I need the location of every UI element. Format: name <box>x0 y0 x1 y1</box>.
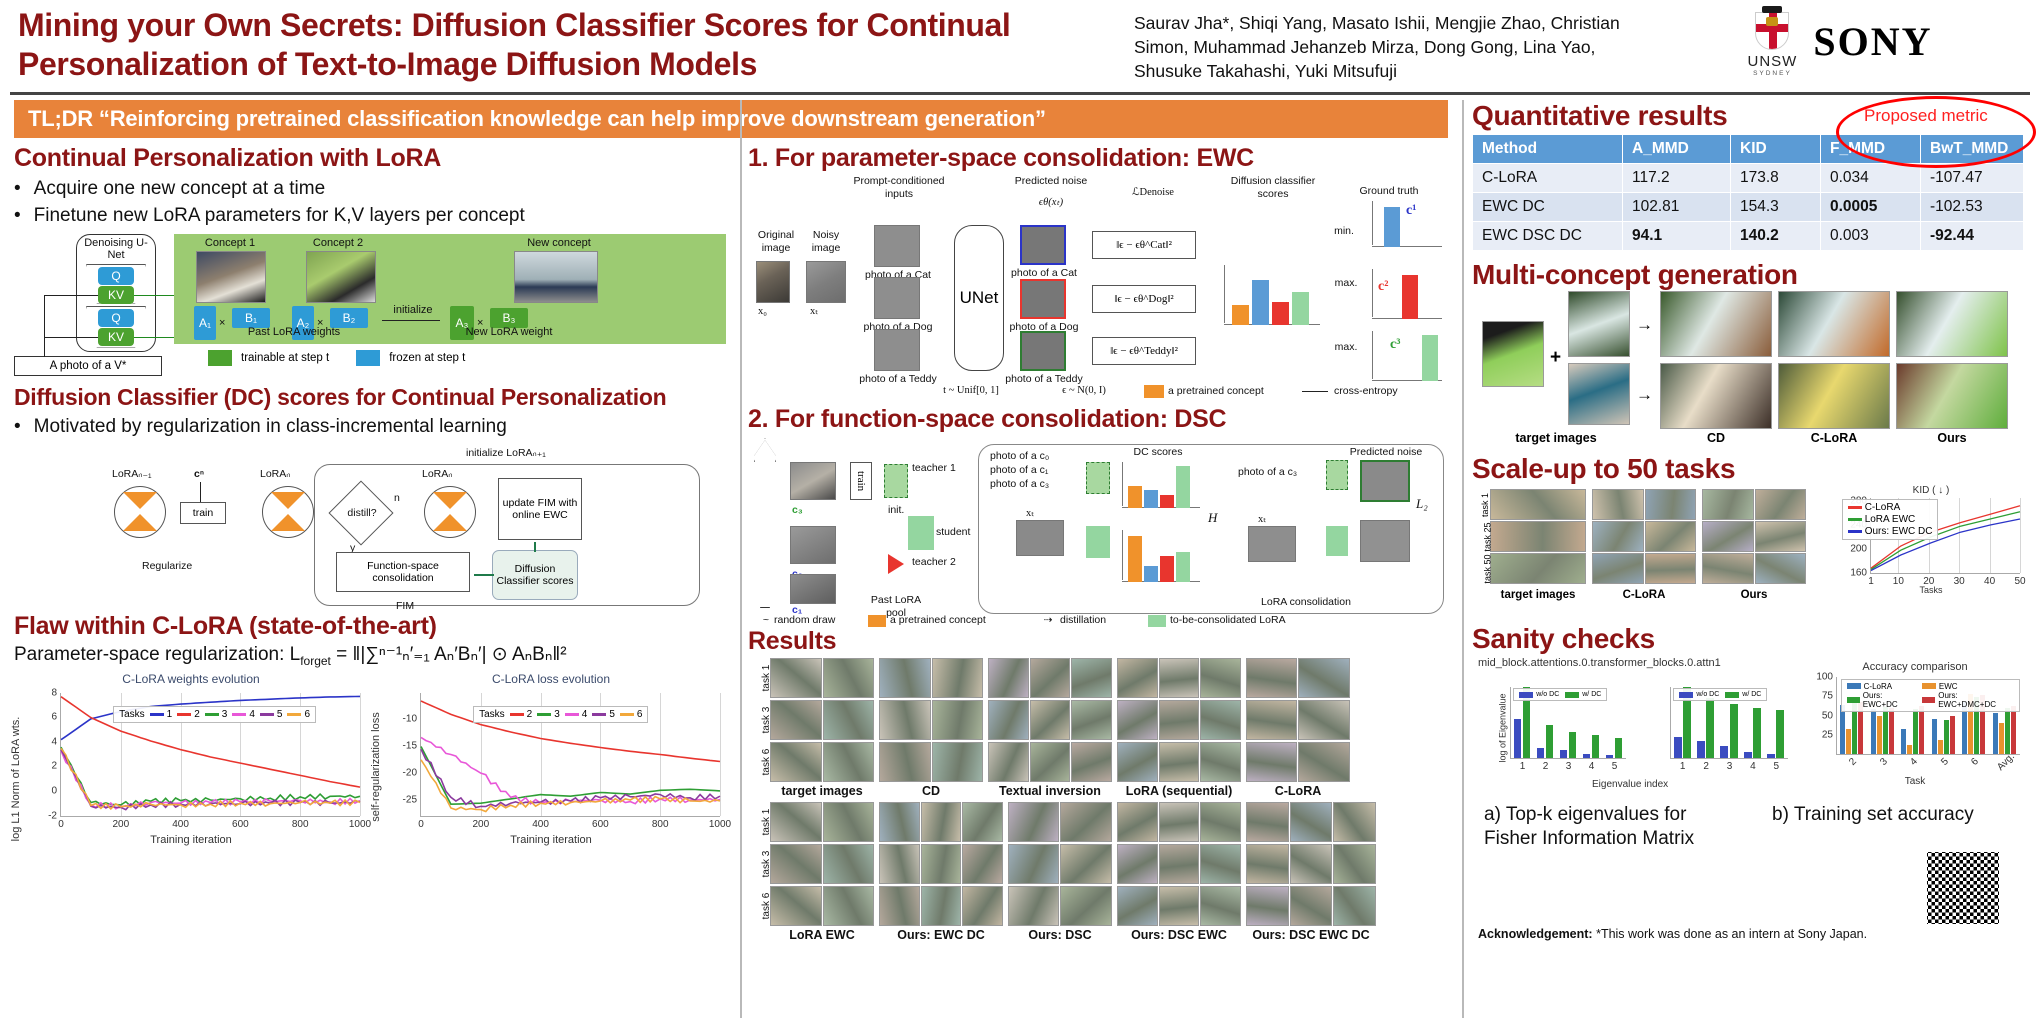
bar <box>1932 719 1937 754</box>
results-cap-ti: Textual inversion <box>988 784 1112 798</box>
results-image <box>823 658 875 698</box>
photo-c3-label-2: photo of a c₃ <box>1238 466 1324 479</box>
dsc-pretrained-label: a pretrained concept <box>890 614 1010 627</box>
concept1-image <box>196 251 266 303</box>
bar <box>2011 706 2016 754</box>
results-cell <box>988 700 1112 740</box>
results-image <box>1159 742 1200 782</box>
prompt-cond-image-dog <box>874 277 920 319</box>
mcg-arrow-2: → <box>1636 385 1653 405</box>
table-cell: 0.003 <box>1821 222 1921 251</box>
results-image <box>1200 886 1241 926</box>
results-image <box>1246 742 1298 782</box>
photo-c0-label: photo of a c₀ <box>990 450 1076 463</box>
legend-item: Ours: EWC DC <box>1848 526 1933 537</box>
list-item: Motivated by regularization in class-inc… <box>14 415 734 439</box>
x-tick: 30 <box>1954 573 1965 587</box>
y-tick: 0 <box>51 786 61 797</box>
chart-legend: C-LoRALoRA EWCOurs: EWC DC <box>1842 499 1939 540</box>
dsc-img-c1 <box>790 574 836 604</box>
y-tick: -15 <box>403 741 421 752</box>
legend-swatch <box>510 713 524 716</box>
legend-swatch <box>1922 697 1935 703</box>
results-image <box>1159 802 1200 842</box>
mcg-ours-bottom <box>1896 363 2008 429</box>
legend-label: 5 <box>609 709 615 720</box>
legend-item: w/ DC <box>1565 691 1601 698</box>
results-cell <box>879 802 1003 842</box>
results-image <box>932 658 984 698</box>
bar <box>1753 708 1761 758</box>
multi-concept-figure: + → → target images CD C-LoRA Ours <box>1472 291 2024 441</box>
table-cell: 154.3 <box>1731 193 1821 222</box>
y-axis-label-weights: log L1 Norm of LoRA wts. <box>10 717 22 842</box>
results-cap-lora: LoRA (sequential) <box>1117 784 1241 798</box>
results-image <box>1159 886 1200 926</box>
dsc-c3-label: c₃ <box>792 504 803 517</box>
gt-chart-c1: c¹ <box>1372 201 1442 247</box>
dsc-xt-img-2 <box>1248 526 1296 562</box>
init-label: init. <box>888 504 924 517</box>
y-tick: 4 <box>51 736 61 747</box>
unsw-wordmark: UNSW <box>1748 53 1798 70</box>
bar <box>1938 740 1943 754</box>
results-cell <box>1117 742 1241 782</box>
x-tick: 3 <box>1876 754 1890 768</box>
frozen-swatch <box>356 350 380 366</box>
fim-xlabel: Eigenvalue index <box>1592 779 1668 790</box>
chart-legend: Tasks23456 <box>473 706 648 723</box>
legend-item: 2 <box>177 709 200 720</box>
dsc-img-c2 <box>790 526 836 564</box>
unsw-sub-wordmark: SYDNEY <box>1753 70 1792 77</box>
results-cell <box>770 844 874 884</box>
legend-item: Ours: EWC+DMC+DC <box>1922 691 2014 709</box>
results-image <box>962 844 1003 884</box>
dsc-top-bar-1 <box>1144 490 1158 508</box>
legend-label: w/o DC <box>1536 691 1559 698</box>
dc-bar-3 <box>1292 292 1309 325</box>
results-image <box>770 802 822 842</box>
column-divider-1 <box>740 100 742 1018</box>
random-draw-label: random draw <box>774 614 854 627</box>
noisy-image <box>806 261 846 303</box>
y-tick: 6 <box>51 712 61 723</box>
results-image <box>1298 658 1350 698</box>
scale-image <box>1592 489 1644 520</box>
dc-bar-2 <box>1272 302 1289 325</box>
table-cell: 140.2 <box>1731 222 1821 251</box>
results-cell <box>1246 802 1376 842</box>
results-cell <box>770 742 874 782</box>
gt1-bar <box>1384 207 1400 247</box>
initialize-label: initialize <box>380 304 446 316</box>
scale-image <box>1702 521 1754 552</box>
lora-n-tri-top-2 <box>433 492 467 509</box>
plot-loss: self-regularization loss 020040060080010… <box>374 687 728 847</box>
x-tick: 5 <box>1612 758 1618 772</box>
results-image <box>1071 742 1112 782</box>
results-cell <box>770 802 874 842</box>
legend-label: w/ DC <box>1742 691 1761 698</box>
table-cell: C-LoRA <box>1473 164 1623 193</box>
gt2-axis-y <box>1372 269 1373 317</box>
table-cell: 0.0005 <box>1821 193 1921 222</box>
results-image <box>1246 802 1289 842</box>
sanity-caption-b: b) Training set accuracy <box>1772 803 2022 827</box>
accuracy-chart: Accuracy comparison 25507510023456Avg.C-… <box>1806 661 2024 789</box>
dc-scores-label: Diffusion classifier scores <box>1218 175 1328 200</box>
unsw-logo: UNSW SYDNEY <box>1748 6 1798 77</box>
chart-legend: w/o DCw/ DC <box>1513 688 1607 701</box>
scale-cell <box>1490 489 1586 520</box>
y-tick: -20 <box>403 767 421 778</box>
legend-label: 1 <box>167 709 173 720</box>
original-image-label: Original image <box>750 229 802 254</box>
x-tick: 50 <box>2014 573 2025 587</box>
dsc-bot-bar-1 <box>1144 566 1158 582</box>
noisy-image-label: Noisy image <box>802 229 850 254</box>
clora-charts: C-LoRA weights evolution log L1 Norm of … <box>14 672 734 847</box>
legend-label: 3 <box>554 709 560 720</box>
x-tick: 1000 <box>709 816 731 830</box>
results-image <box>1298 742 1350 782</box>
legend-item: 5 <box>592 709 615 720</box>
quant-header-row: Quantitative results Proposed metric <box>1472 100 2032 132</box>
x0-label: x₀ <box>758 306 767 319</box>
legend-label: 6 <box>637 709 643 720</box>
t-unif-label: t ~ Unif[0, 1] <box>916 385 1026 398</box>
list-item: Finetune new LoRA parameters for K,V lay… <box>14 204 734 228</box>
legend-item: 4 <box>232 709 255 720</box>
results-image <box>1246 844 1289 884</box>
legend-label: 4 <box>582 709 588 720</box>
ground-truth-label: Ground truth <box>1344 185 1434 198</box>
gridline <box>360 693 361 816</box>
results-image <box>921 886 962 926</box>
lora-a-chart: 12345w/o DCw/ DC <box>1488 673 1628 777</box>
results-image <box>1333 886 1376 926</box>
chart-title-weights: C-LoRA weights evolution <box>14 672 368 686</box>
diffusion-classifier-scores-box: Diffusion Classifier scores <box>492 550 578 600</box>
kid-x-label: Tasks <box>1919 585 1942 595</box>
mcg-sunglasses <box>1568 363 1630 425</box>
scale-row: task 25 <box>1490 521 1806 552</box>
dsc-top-axis-y <box>1122 462 1123 506</box>
results-image <box>1246 658 1298 698</box>
legend-swatch <box>565 713 579 716</box>
lora-n-tri-bottom-1 <box>271 514 305 531</box>
dc-bar-0 <box>1232 305 1249 325</box>
cn-label: cⁿ <box>194 468 204 480</box>
dsc-xt-label-2: xₜ <box>1258 514 1266 527</box>
accuracy-plot-area: 25507510023456Avg.C-LoRAEWCOurs: EWC+DCO… <box>1836 677 2020 755</box>
legend-item: 6 <box>620 709 643 720</box>
x-tick: 3 <box>1566 758 1572 772</box>
scale-image <box>1490 521 1586 552</box>
results-cell <box>1117 802 1241 842</box>
scale-cap-clora: C-LoRA <box>1592 589 1696 601</box>
prompt-cond-image-teddy <box>874 329 920 371</box>
results-cap-clora: C-LoRA <box>1246 784 1350 798</box>
pretrained-concept-label: a pretrained concept <box>1168 385 1286 398</box>
section-title-continual-personalization: Continual Personalization with LoRA <box>14 144 734 173</box>
results-image <box>770 700 822 740</box>
dsc-pred-noise-top <box>1360 460 1410 502</box>
legend-item: w/o DC <box>1679 691 1719 698</box>
bar <box>1944 720 1949 754</box>
results-image <box>988 742 1029 782</box>
results-row: task 6 <box>770 742 1448 782</box>
legend-title: Tasks <box>119 709 145 720</box>
bar <box>1730 704 1738 758</box>
arrow-kv-to-panel-top <box>134 295 176 297</box>
gridline <box>2020 498 2021 573</box>
legend-label: 2 <box>194 709 200 720</box>
lora-n-minus-1-label: LoRAₙ₋₁ <box>112 468 152 480</box>
results-cap-ewcdc: Ours: EWC DC <box>879 928 1003 942</box>
legend-item: EWC <box>1922 682 2014 691</box>
results-row: task 1 <box>770 658 1448 698</box>
results-grid-bottom: task 1task 3task 6 LoRA EWC Ours: EWC DC… <box>748 802 1448 942</box>
legend-label: 6 <box>304 709 310 720</box>
prompt-cond-image-cat <box>874 225 920 267</box>
q-block-top: Q <box>98 267 134 285</box>
legend-item: Ours: EWC+DC <box>1847 691 1916 709</box>
legend-swatch <box>620 713 634 716</box>
y-tick: -25 <box>403 794 421 805</box>
plot-weights: log L1 Norm of LoRA wts. 020040060080010… <box>14 687 368 847</box>
pretrained-concept-swatch <box>1144 385 1164 398</box>
train-box: train <box>180 502 226 524</box>
results-image <box>932 742 984 782</box>
y-tick: -2 <box>48 810 61 821</box>
list-item: Acquire one new concept at a time <box>14 177 734 201</box>
H-label: H <box>1208 510 1217 526</box>
poster-root: Mining your Own Secrets: Diffusion Class… <box>0 0 2040 1020</box>
gt-chart-c3: c³ <box>1372 331 1442 381</box>
x-tick: 2 <box>1845 754 1859 768</box>
y-tick: 75 <box>1822 691 1837 702</box>
mcg-cap-clora: C-LoRA <box>1778 431 1890 445</box>
legend-swatch <box>592 713 606 716</box>
column-middle: 1. For parameter-space consolidation: EW… <box>748 144 1448 942</box>
results-cell <box>988 742 1112 782</box>
chart-legend: w/o DCw/ DC <box>1673 688 1767 701</box>
sanity-caption-a: a) Top-k eigenvalues for Fisher Informat… <box>1484 803 1734 852</box>
x-tick: 800 <box>292 816 309 830</box>
scale-row: task 1 <box>1490 489 1806 520</box>
results-cell <box>879 700 983 740</box>
results-caps-top: target images CD Textual inversion LoRA … <box>770 784 1448 798</box>
y-tick: 160 <box>1850 568 1871 579</box>
table-cell: 102.81 <box>1623 193 1731 222</box>
table-row: EWC DC102.81154.30.0005-102.53 <box>1473 193 2024 222</box>
page-title: Mining your Own Secrets: Diffusion Class… <box>18 6 1120 84</box>
cross-entropy-arrow <box>1302 391 1328 392</box>
table-cell: -92.44 <box>1921 222 2024 251</box>
concept1-label: Concept 1 <box>188 237 272 249</box>
dsc-train-box: train <box>850 462 872 500</box>
x-tick: 5 <box>1774 758 1780 772</box>
trainable-label: trainable at step t <box>241 352 329 364</box>
th-kid: KID <box>1731 135 1821 164</box>
y-tick: 25 <box>1822 729 1837 740</box>
results-cell <box>770 700 874 740</box>
update-fim-box: update FIM with online EWC <box>498 478 582 540</box>
table-cell: 117.2 <box>1623 164 1731 193</box>
photo-teddy-label-2: photo of a Teddy <box>1002 373 1086 386</box>
x-tick: 10 <box>1893 573 1904 587</box>
legend-item: 5 <box>260 709 283 720</box>
results-image <box>1117 742 1158 782</box>
dsc-pred-noise-bottom <box>1360 520 1410 562</box>
lora-n-label-1: LoRAₙ <box>260 468 290 480</box>
dsc-right-lora-top <box>1326 460 1348 490</box>
results-row: task 3 <box>770 700 1448 740</box>
results-cell <box>988 658 1112 698</box>
results-cell <box>1246 844 1376 884</box>
arrow-kv-to-panel-bottom <box>134 337 176 339</box>
results-cell <box>1117 886 1241 926</box>
series-line <box>421 737 720 804</box>
bar <box>1871 709 1876 754</box>
legend-swatch <box>1725 692 1739 698</box>
prompt-inputs-label: Prompt-conditioned inputs <box>844 175 954 200</box>
section-title-results: Results <box>748 627 1448 656</box>
bar <box>1606 755 1614 758</box>
teacher2-marker <box>888 554 904 574</box>
kid-plot-wrap: 11020304050160200240280 Tasks C-LoRALoRA… <box>1836 496 2026 596</box>
legend-label: C-LoRA <box>1865 502 1901 513</box>
dsc-top-bar-2 <box>1160 495 1174 508</box>
dsc-img-c3 <box>790 462 836 500</box>
dsc-bars-top <box>1122 462 1200 508</box>
author-list: Saurav Jha*, Shiqi Yang, Masato Ishii, M… <box>1120 0 1640 83</box>
legend-label: Ours: EWC+DC <box>1863 691 1916 709</box>
y-tick: 50 <box>1822 710 1837 721</box>
kid-chart: KID ( ↓ ) 11020304050160200240280 Tasks … <box>1836 485 2026 605</box>
concept2-label: Concept 2 <box>296 237 380 249</box>
x-tick: 40 <box>1984 573 1995 587</box>
dc-bar-1 <box>1252 280 1269 325</box>
prompt-line <box>44 295 45 357</box>
results-image <box>1030 658 1071 698</box>
c2-label: c² <box>1378 279 1388 295</box>
pred-noise-dog <box>1020 279 1066 319</box>
results-cell <box>879 886 1003 926</box>
results-image <box>879 700 931 740</box>
results-image <box>1200 700 1241 740</box>
x-axis-label-weights: Training iteration <box>150 834 232 846</box>
legend-label: w/o DC <box>1696 691 1719 698</box>
column-divider-2 <box>1462 100 1464 1018</box>
pred-noise-cat <box>1020 225 1066 265</box>
series-line <box>61 747 360 806</box>
results-image <box>770 886 822 926</box>
table-cell: EWC DSC DC <box>1473 222 1623 251</box>
bar <box>1514 719 1522 758</box>
results-image <box>1333 844 1376 884</box>
table-cell: 0.034 <box>1821 164 1921 193</box>
lora-b-plot-area: 12345w/o DCw/ DC <box>1670 687 1788 759</box>
legend-swatch <box>150 713 164 716</box>
results-image <box>1298 700 1350 740</box>
results-caps-bottom: LoRA EWC Ours: EWC DC Ours: DSC Ours: DS… <box>770 928 1448 942</box>
dsc-bot-bar-3 <box>1176 552 1190 582</box>
scale-image <box>1645 553 1697 584</box>
results-image <box>1333 802 1376 842</box>
bar <box>1950 716 1955 754</box>
legend-swatch <box>287 713 301 716</box>
scale-image <box>1592 553 1644 584</box>
y-tick: 8 <box>51 687 61 698</box>
results-image <box>823 742 875 782</box>
results-image <box>1200 742 1241 782</box>
results-grid-top-cells: task 1task 3task 6 <box>770 658 1448 782</box>
x-tick: 5 <box>1937 754 1951 768</box>
legend-item: 6 <box>287 709 310 720</box>
results-image <box>1200 844 1241 884</box>
lora-consolidation-label: LoRA consolidation <box>1226 596 1386 609</box>
legend-item: 2 <box>510 709 533 720</box>
legend-swatch <box>1922 683 1936 689</box>
column-left: Continual Personalization with LoRA Acqu… <box>14 144 734 847</box>
dsc-pretrained-swatch <box>868 615 886 627</box>
loss-cat-box: ‖ϵ − ϵθ^Cat‖² <box>1092 231 1196 259</box>
legend-label: Ours: EWC+DMC+DC <box>1938 691 2014 709</box>
table-body: C-LoRA117.2173.80.034-107.47EWC DC102.81… <box>1473 164 2024 251</box>
dc-scores-title: DC scores <box>1128 446 1188 459</box>
results-image <box>932 700 984 740</box>
kv-block-top: KV <box>98 286 134 304</box>
table-cell: -102.53 <box>1921 193 2024 222</box>
bar <box>1583 754 1591 758</box>
results-image <box>962 802 1003 842</box>
loss-teddy-box: ‖ϵ − ϵθ^Teddy‖² <box>1092 337 1196 365</box>
scaleup-figure: task 1task 25task 50 target images C-LoR… <box>1472 485 2024 615</box>
L2-label: L₂ <box>1416 496 1428 512</box>
table-cell: EWC DC <box>1473 193 1623 222</box>
lora-legend: trainable at step t frozen at step t <box>174 350 726 366</box>
bar <box>1569 732 1577 758</box>
results-cell <box>1246 886 1376 926</box>
legend-label: 5 <box>277 709 283 720</box>
results-image <box>1060 886 1112 926</box>
dc-to-fsc-arrow <box>474 574 494 576</box>
scale-cell <box>1592 489 1696 520</box>
results-image <box>1071 658 1112 698</box>
results-cap-dsc: Ours: DSC <box>1008 928 1112 942</box>
mcg-cd-bottom <box>1660 363 1772 429</box>
dsc-pipeline-figure: c₃ c₂ c₁ train teacher 1 init. student t… <box>748 434 1448 629</box>
legend-item: 4 <box>565 709 588 720</box>
bar <box>1546 725 1554 758</box>
scale-row-label: task 50 <box>1483 554 1493 583</box>
scale-cap-target: target images <box>1490 589 1586 601</box>
x-tick: 1 <box>1680 758 1686 772</box>
dsc-teacher1-lora <box>884 464 908 498</box>
qr-code[interactable] <box>1924 849 2002 927</box>
results-cell <box>1246 658 1350 698</box>
legend-label: w/ DC <box>1582 691 1601 698</box>
proposed-metric-label: Proposed metric <box>1864 106 1988 126</box>
section-title-dc-scores: Diffusion Classifier (DC) scores for Con… <box>14 384 734 411</box>
ewc-pipeline-figure: Prompt-conditioned inputs Predicted nois… <box>748 173 1448 403</box>
q-block-bottom: Q <box>98 309 134 327</box>
prompt-box: A photo of a V* <box>14 356 162 376</box>
lora-n-tri-top-1 <box>271 492 305 509</box>
